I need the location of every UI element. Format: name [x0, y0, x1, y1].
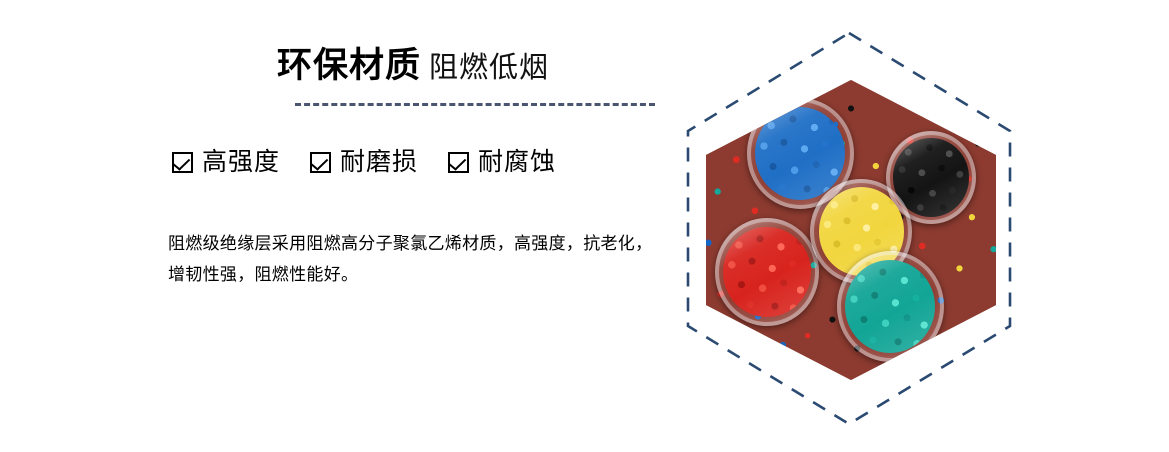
feature-item-wear-resistant: 耐磨损	[310, 150, 418, 175]
feature-list: 高强度 耐磨损 耐腐蚀	[172, 150, 556, 175]
feature-item-corrosion-resistant: 耐腐蚀	[448, 150, 556, 175]
title-primary: 环保材质	[277, 46, 421, 85]
feature-label: 高强度	[202, 150, 280, 175]
checked-box-icon	[172, 152, 193, 173]
red-pellet-mound	[723, 227, 811, 318]
teal-pellet-mound	[845, 260, 935, 353]
checked-box-icon	[448, 152, 469, 173]
feature-item-high-strength: 高强度	[172, 150, 280, 175]
checked-box-icon	[310, 152, 331, 173]
text-column: 环保材质阻燃低烟 高强度 耐磨损 耐腐蚀 阻燃级绝缘层采用阻燃高分子聚氯乙烯材质…	[168, 0, 668, 452]
body-description: 阻燃级绝缘层采用阻燃高分子聚氯乙烯材质，高强度，抗老化，增韧性强，阻燃性能好。	[168, 228, 668, 290]
feature-label: 耐磨损	[340, 150, 418, 175]
hexagon-figure	[686, 31, 1012, 426]
feature-label: 耐腐蚀	[478, 150, 556, 175]
page-title: 环保材质阻燃低烟	[168, 48, 658, 83]
red-pellet-jar	[715, 218, 819, 326]
title-block: 环保材质阻燃低烟	[168, 48, 658, 83]
title-dashed-rule	[295, 103, 655, 106]
product-feature-banner: 环保材质阻燃低烟 高强度 耐磨损 耐腐蚀 阻燃级绝缘层采用阻燃高分子聚氯乙烯材质…	[0, 0, 1169, 452]
title-secondary: 阻燃低烟	[429, 52, 549, 84]
